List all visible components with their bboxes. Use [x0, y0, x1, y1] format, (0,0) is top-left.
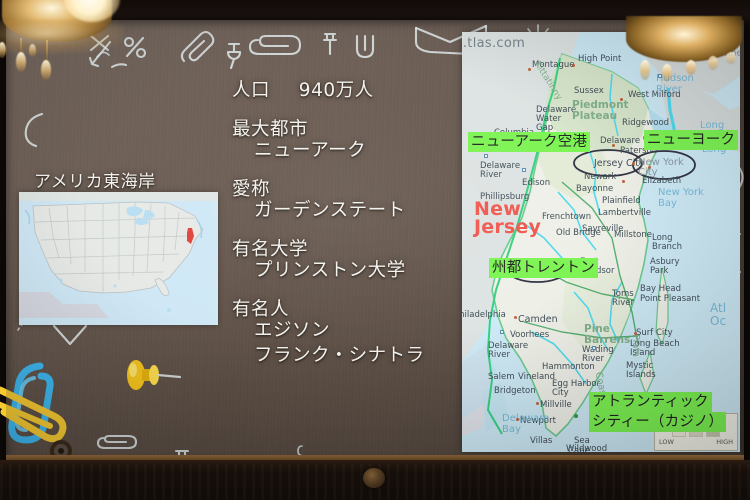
fact-nickname-value: ガーデンステート [232, 202, 462, 221]
chandelier-wire [46, 40, 48, 62]
annotation-state-capital-trenton: 州都トレントン [489, 258, 598, 278]
fact-famous-person-2: フランク・シナトラ [232, 347, 462, 366]
legend-low-label: LOW [659, 438, 674, 446]
chandelier-left [0, 0, 132, 110]
state-name-line-2: Jersey [474, 218, 541, 236]
us-inset-map [19, 192, 218, 325]
chandelier-crystal [41, 60, 51, 80]
fact-population-value: 940万人 [299, 80, 374, 101]
city-green-dot [574, 414, 578, 418]
city-square [484, 154, 488, 158]
us-map-caption: アメリカ東海岸 [34, 167, 156, 192]
city-square [592, 346, 596, 350]
furniture-knob [363, 468, 385, 488]
chandelier-crystal [708, 56, 718, 70]
yellow-paperclip [0, 382, 84, 446]
city-square [500, 330, 504, 334]
map-watermark: ...tlas.com [462, 36, 525, 51]
annotation-atlantic-city-line-2: シティー（カジノ） [589, 412, 726, 432]
city-dot [612, 144, 615, 147]
annotation-newark-airport: ニューアーク空港 [468, 132, 590, 152]
fact-population-label: 人口 [232, 80, 270, 101]
fact-largest-city-label: 最大都市 [232, 121, 462, 140]
fact-famous-people-label: 有名人 [232, 301, 462, 320]
fact-university-value: プリンストン大学 [232, 262, 462, 281]
city-dot [622, 180, 625, 183]
chandelier-crystal [29, 44, 36, 57]
legend-high-label: HIGH [716, 438, 733, 446]
fact-nickname-label: 愛称 [232, 181, 462, 200]
chandelier-crystal [726, 52, 736, 64]
screenshot-root: アメリカ東海岸 人口 940万人 最大都市 ニューアーク 愛称 ガーデンステート… [0, 0, 750, 500]
fact-list: 人口 940万人 最大都市 ニューアーク 愛称 ガーデンステート 有名大学 プリ… [232, 82, 462, 371]
city-dot [536, 402, 539, 405]
chandelier-crystal [0, 42, 6, 58]
annotation-atlantic-city-line-1: アトランティック [589, 392, 712, 412]
fact-university-label: 有名大学 [232, 241, 462, 260]
city-dot [572, 64, 575, 67]
city-dot [528, 68, 531, 71]
city-square [522, 168, 526, 172]
chandelier-crystal [640, 60, 650, 80]
city-dot [634, 332, 637, 335]
chandelier-crystal [16, 52, 26, 72]
chandelier-crystal [686, 60, 696, 75]
city-dot [516, 418, 519, 421]
city-dot [632, 162, 635, 165]
map-legend-range: LOW HIGH [655, 437, 737, 446]
chandelier-glow [0, 20, 124, 54]
yellow-pushpin [118, 358, 182, 392]
fact-largest-city-value: ニューアーク [232, 142, 462, 161]
annotation-new-york: ニューヨーク [644, 130, 738, 150]
chandelier-body [626, 16, 742, 62]
fact-population: 人口 940万人 [232, 82, 462, 101]
state-name: New Jersey [474, 200, 541, 236]
fact-famous-person-1: エジソン [232, 322, 462, 341]
city-dot [514, 316, 517, 319]
chandelier-crystal [662, 64, 672, 81]
city-dot [648, 166, 651, 169]
chandelier-right [596, 22, 746, 118]
